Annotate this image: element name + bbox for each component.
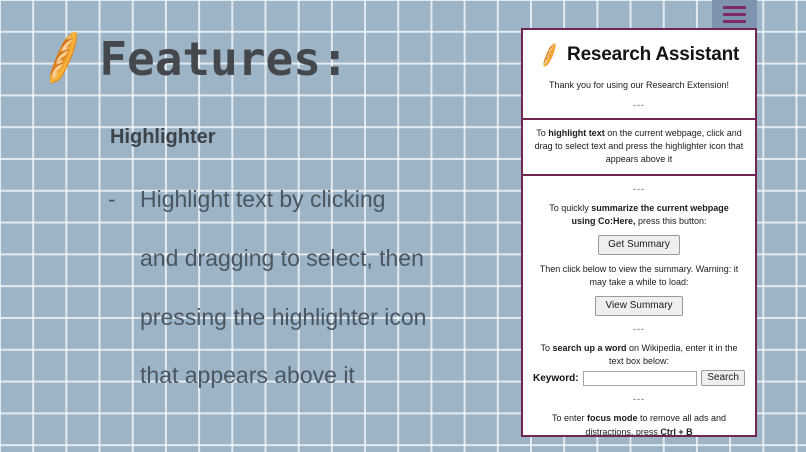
view-summary-button[interactable]: View Summary [595,296,682,316]
hamburger-menu-icon[interactable] [712,0,757,28]
view-summary-row: View Summary [537,289,741,316]
focus-lead: To enter [552,413,587,423]
page-title-text: Features: [99,36,348,82]
summarize-instruction-text: To quickly summarize the current webpage… [537,202,741,228]
bullet-line-1: Highlight text by clicking [140,186,385,213]
summarize-lead: To quickly [549,203,591,213]
highlight-lead: To [536,128,548,138]
focus-mode-text: To enter focus mode to remove all ads an… [537,412,741,437]
search-button[interactable]: Search [701,370,745,386]
get-summary-button[interactable]: Get Summary [598,235,680,255]
bread-baguette-icon: 🥖 [537,43,563,66]
search-lead: To [540,343,552,353]
bullet-line-4: that appears above it [140,362,355,389]
separator-2: --- [523,176,755,202]
bread-baguette-icon: 🥖 [35,33,92,85]
research-assistant-panel: 🥖 Research Assistant Thank you for using… [521,28,757,437]
keyword-label: Keyword: [533,373,579,384]
search-section: To search up a word on Wikipedia, enter … [523,342,755,368]
separator-1: --- [523,92,755,118]
panel-title: Research Assistant [567,44,739,66]
highlight-bold: highlight text [548,128,605,138]
highlight-instruction-box: To highlight text on the current webpage… [521,118,757,176]
hamburger-bar-2 [723,13,746,16]
keyword-row: Keyword: Search [523,368,755,386]
search-instruction-text: To search up a word on Wikipedia, enter … [537,342,741,368]
hamburger-bar-3 [723,20,746,23]
bullet-line-3: pressing the highlighter icon [140,304,426,331]
search-bold: search up a word [552,343,626,353]
panel-header: 🥖 Research Assistant [523,30,755,70]
slide-canvas: 🥖 Features: Highlighter - Highlight text… [0,0,806,452]
separator-3: --- [523,316,755,342]
panel-thanks-text: Thank you for using our Research Extensi… [523,70,755,92]
summarize-rest: press this button: [635,216,706,226]
bullet-line-2: and dragging to select, then [140,245,424,272]
view-summary-note: Then click below to view the summary. Wa… [537,255,741,289]
separator-4: --- [523,386,755,412]
hamburger-bar-1 [723,6,746,9]
focus-bold: focus mode [587,413,638,423]
bullet-dash: - [108,186,116,213]
search-rest: on Wikipedia, enter it in the text box b… [609,343,738,366]
section-subheading: Highlighter [110,126,216,149]
page-title: 🥖 Features: [40,36,349,82]
focus-mode-section: To enter focus mode to remove all ads an… [523,412,755,437]
focus-shortcut: Ctrl + B [660,427,692,437]
get-summary-row: Get Summary [537,228,741,255]
summarize-section: To quickly summarize the current webpage… [523,202,755,316]
keyword-input[interactable] [583,371,698,386]
highlight-instruction-text: To highlight text on the current webpage… [533,127,745,166]
